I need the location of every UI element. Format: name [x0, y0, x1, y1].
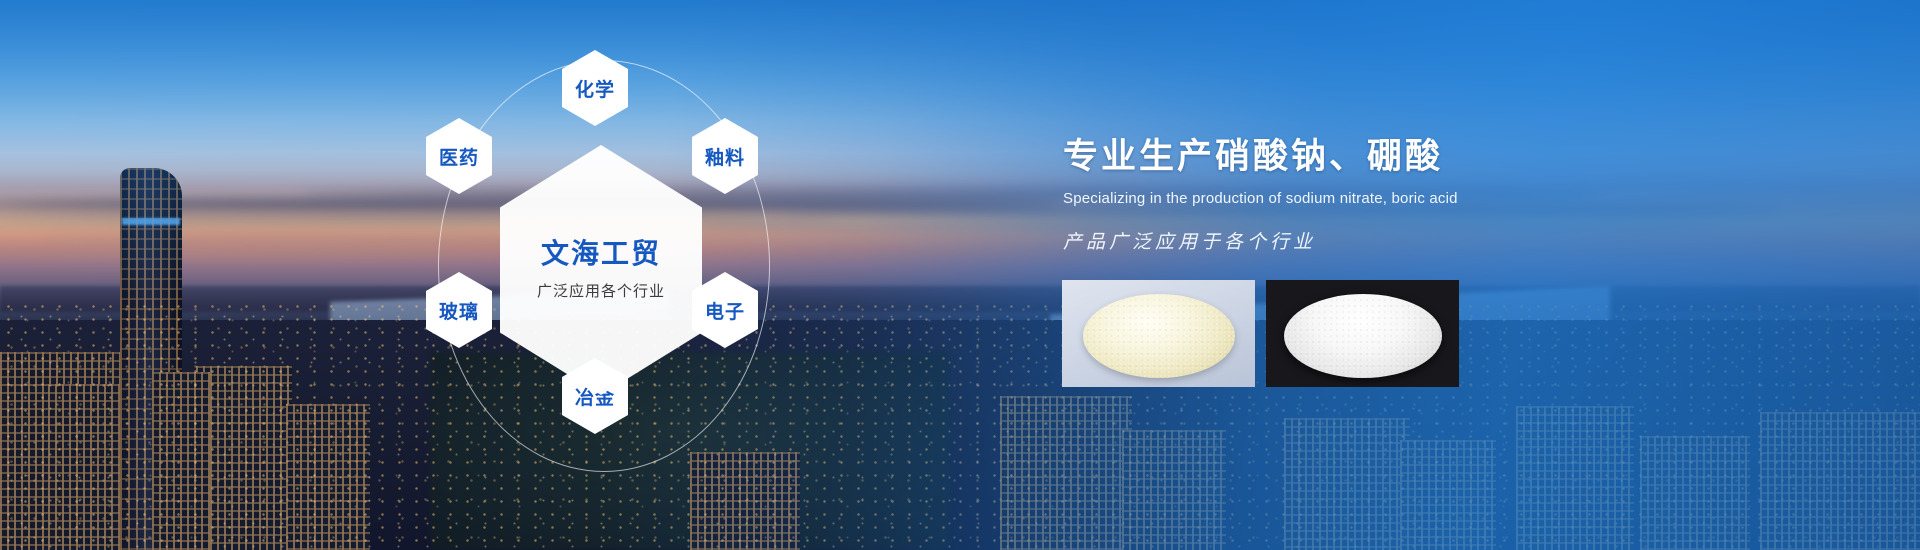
hex-node-label: 玻璃	[439, 297, 479, 324]
hex-node-label: 医药	[439, 143, 479, 170]
product-photo-row	[1062, 280, 1459, 387]
industry-hex-diagram: 化学 釉料 电子 冶金 玻璃 医药 文海工贸 广泛应用各个行业	[0, 0, 960, 550]
product-photo-sodium-nitrate[interactable]	[1062, 280, 1255, 387]
company-tagline: 广泛应用各个行业	[537, 280, 665, 301]
product-photo-boric-acid[interactable]	[1266, 280, 1459, 387]
powder-grain-texture	[1284, 294, 1442, 378]
powder-pile	[1284, 294, 1442, 378]
company-name: 文海工贸	[541, 239, 661, 270]
hex-node-label: 化学	[575, 75, 615, 102]
headline-english: Specializing in the production of sodium…	[1063, 190, 1823, 207]
headline-block: 专业生产硝酸钠、硼酸 Specializing in the productio…	[1063, 128, 1823, 254]
promo-banner: 化学 釉料 电子 冶金 玻璃 医药 文海工贸 广泛应用各个行业 专业生产硝酸钠、…	[0, 0, 1920, 550]
headline-tagline: 产品广泛应用于各个行业	[1063, 227, 1823, 254]
powder-grain-texture	[1083, 294, 1235, 378]
headline-chinese: 专业生产硝酸钠、硼酸	[1063, 128, 1823, 179]
powder-pile	[1083, 294, 1235, 378]
hex-node-label: 电子	[705, 297, 745, 324]
hex-node-label: 釉料	[705, 143, 745, 170]
